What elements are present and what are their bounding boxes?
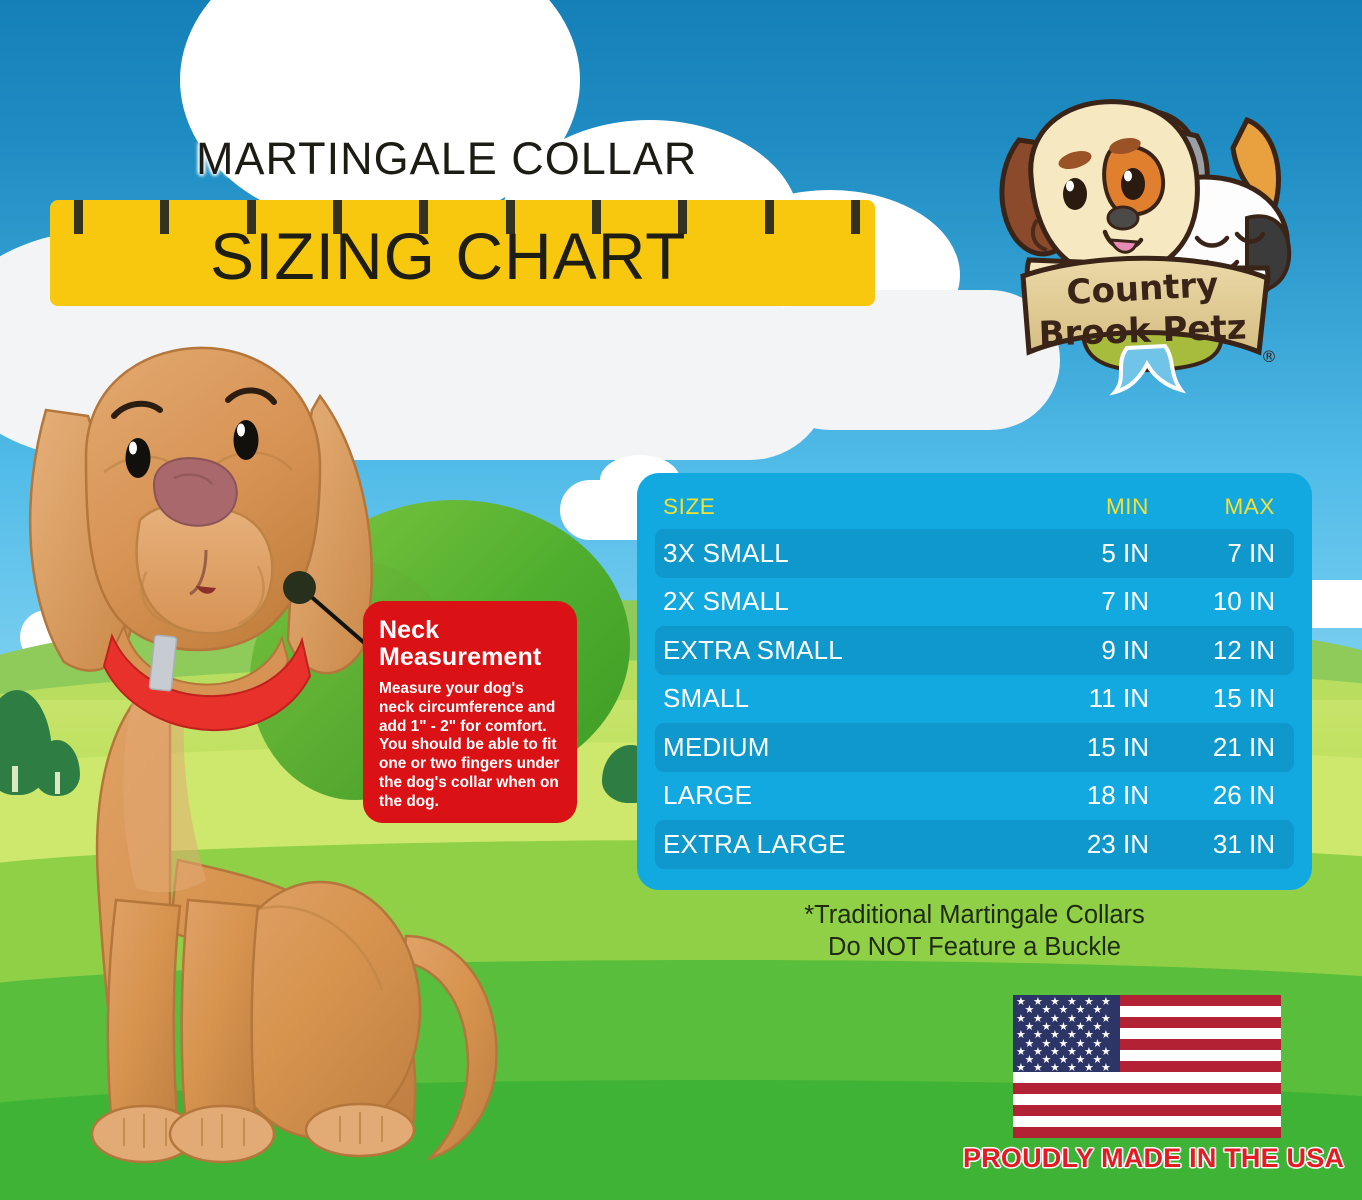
flag-star: ★ (1101, 1014, 1111, 1025)
cell-max: 10 IN (1149, 586, 1275, 617)
cell-min: 18 IN (1023, 780, 1149, 811)
cell-min: 5 IN (1023, 538, 1149, 569)
column-header-size: SIZE (663, 494, 1023, 520)
flag-star: ★ (1033, 1063, 1043, 1072)
callout-body: Measure your dog's neck circumference an… (379, 680, 563, 811)
table-row: SMALL11 IN15 IN (655, 675, 1294, 724)
flag-star: ★ (1101, 1063, 1111, 1072)
cell-max: 26 IN (1149, 780, 1275, 811)
flag-star: ★ (1050, 1063, 1060, 1072)
flag-star: ★ (1101, 1047, 1111, 1058)
column-header-min: MIN (1023, 494, 1149, 520)
flag-stripe (1013, 1083, 1281, 1094)
table-row: EXTRA SMALL9 IN12 IN (655, 626, 1294, 675)
flag-star: ★ (1016, 1063, 1026, 1072)
neck-measurement-callout: Neck Measurement Measure your dog's neck… (363, 601, 577, 823)
cell-size: EXTRA SMALL (663, 635, 1023, 666)
tree-trunk-1 (12, 766, 18, 792)
made-in-usa-label: PROUDLY MADE IN THE USA (963, 1143, 1333, 1174)
page-title: SIZING CHART (210, 218, 686, 294)
buckle-disclaimer: *Traditional Martingale Collars Do NOT F… (637, 899, 1312, 963)
cell-max: 15 IN (1149, 683, 1275, 714)
table-row: 2X SMALL7 IN10 IN (655, 578, 1294, 627)
cell-max: 31 IN (1149, 829, 1275, 860)
usa-flag: ★★★★★★★★★★★★★★★★★★★★★★★★★★★★★★★★★★★★★★★★… (1013, 995, 1281, 1138)
table-row: MEDIUM15 IN21 IN (655, 723, 1294, 772)
cell-size: 2X SMALL (663, 586, 1023, 617)
table-row: 3X SMALL5 IN7 IN (655, 529, 1294, 578)
table-body: 3X SMALL5 IN7 IN2X SMALL7 IN10 INEXTRA S… (655, 529, 1294, 869)
cell-min: 11 IN (1023, 683, 1149, 714)
page-subtitle: MARTINGALE COLLAR (196, 133, 697, 185)
disclaimer-line-2: Do NOT Feature a Buckle (637, 931, 1312, 963)
cell-size: LARGE (663, 780, 1023, 811)
cell-size: 3X SMALL (663, 538, 1023, 569)
country-brook-petz-logo: Country Brook Petz ® (975, 72, 1305, 407)
flag-star: ★ (1067, 1063, 1077, 1072)
ruler-tick (74, 200, 83, 234)
callout-heading: Neck Measurement (379, 617, 563, 671)
cell-max: 12 IN (1149, 635, 1275, 666)
cell-size: EXTRA LARGE (663, 829, 1023, 860)
table-row: EXTRA LARGE23 IN31 IN (655, 820, 1294, 869)
sizing-chart-infographic: Neck Measurement Measure your dog's neck… (0, 0, 1362, 1200)
disclaimer-line-1: *Traditional Martingale Collars (637, 899, 1312, 931)
callout-anchor-dot (283, 571, 316, 604)
ruler-tick (851, 200, 860, 234)
cell-max: 21 IN (1149, 732, 1275, 763)
cell-max: 7 IN (1149, 538, 1275, 569)
cell-min: 7 IN (1023, 586, 1149, 617)
cell-size: SMALL (663, 683, 1023, 714)
ruler-tick (765, 200, 774, 234)
cell-min: 23 IN (1023, 829, 1149, 860)
flag-stripe (1013, 1105, 1281, 1116)
ruler-tick (160, 200, 169, 234)
table-header-row: SIZE MIN MAX (655, 485, 1294, 529)
table-row: LARGE18 IN26 IN (655, 772, 1294, 821)
sizing-table-panel: SIZE MIN MAX 3X SMALL5 IN7 IN2X SMALL7 I… (637, 473, 1312, 890)
flag-star: ★ (1101, 1030, 1111, 1041)
logo-name-line1: Country (1066, 265, 1220, 313)
cell-size: MEDIUM (663, 732, 1023, 763)
flag-star: ★ (1101, 997, 1111, 1008)
flag-canton: ★★★★★★★★★★★★★★★★★★★★★★★★★★★★★★★★★★★★★★★★… (1013, 995, 1120, 1072)
flag-stripe (1013, 1127, 1281, 1138)
column-header-max: MAX (1149, 494, 1275, 520)
cell-min: 15 IN (1023, 732, 1149, 763)
flag-star: ★ (1084, 1063, 1094, 1072)
cell-min: 9 IN (1023, 635, 1149, 666)
logo-trademark: ® (1261, 347, 1277, 366)
